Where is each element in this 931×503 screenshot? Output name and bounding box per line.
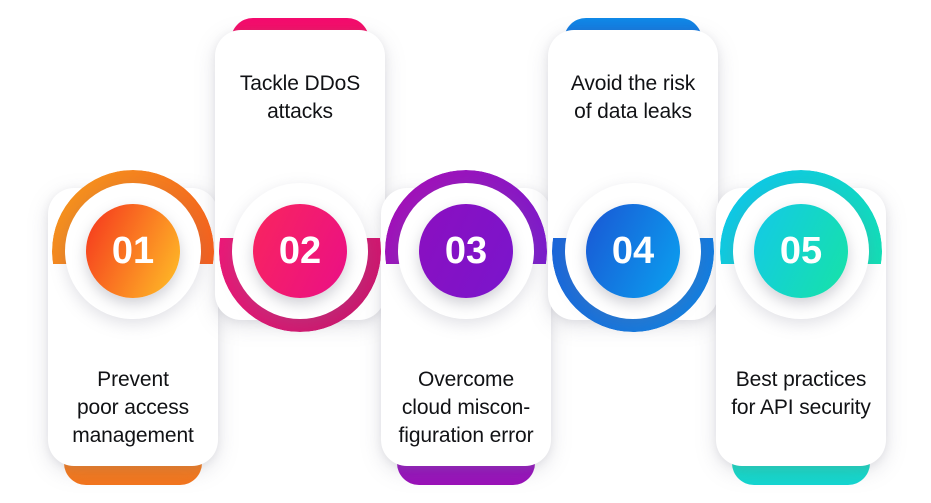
step-03-marker[interactable]: 03	[385, 170, 547, 332]
step-01-label: Prevent poor access management	[34, 366, 232, 450]
step-02-label: Tackle DDoS attacks	[201, 70, 399, 126]
step-01-bead[interactable]: 01	[86, 204, 180, 298]
step-03-number: 03	[445, 232, 487, 270]
infographic-canvas: Prevent poor access management01Tackle D…	[0, 0, 931, 503]
step-01-marker[interactable]: 01	[52, 170, 214, 332]
step-02-number: 02	[279, 232, 321, 270]
step-04-bead[interactable]: 04	[586, 204, 680, 298]
step-05-number: 05	[780, 232, 822, 270]
step-04-marker[interactable]: 04	[552, 170, 714, 332]
step-02-bead[interactable]: 02	[253, 204, 347, 298]
step-04-number: 04	[612, 232, 654, 270]
step-02-marker[interactable]: 02	[219, 170, 381, 332]
step-04-label: Avoid the risk of data leaks	[534, 70, 732, 126]
step-05-label: Best practices for API security	[702, 366, 900, 422]
step-03-bead[interactable]: 03	[419, 204, 513, 298]
step-01-number: 01	[112, 232, 154, 270]
step-05-marker[interactable]: 05	[720, 170, 882, 332]
step-05-bead[interactable]: 05	[754, 204, 848, 298]
step-03-label: Overcome cloud miscon- figuration error	[367, 366, 565, 450]
